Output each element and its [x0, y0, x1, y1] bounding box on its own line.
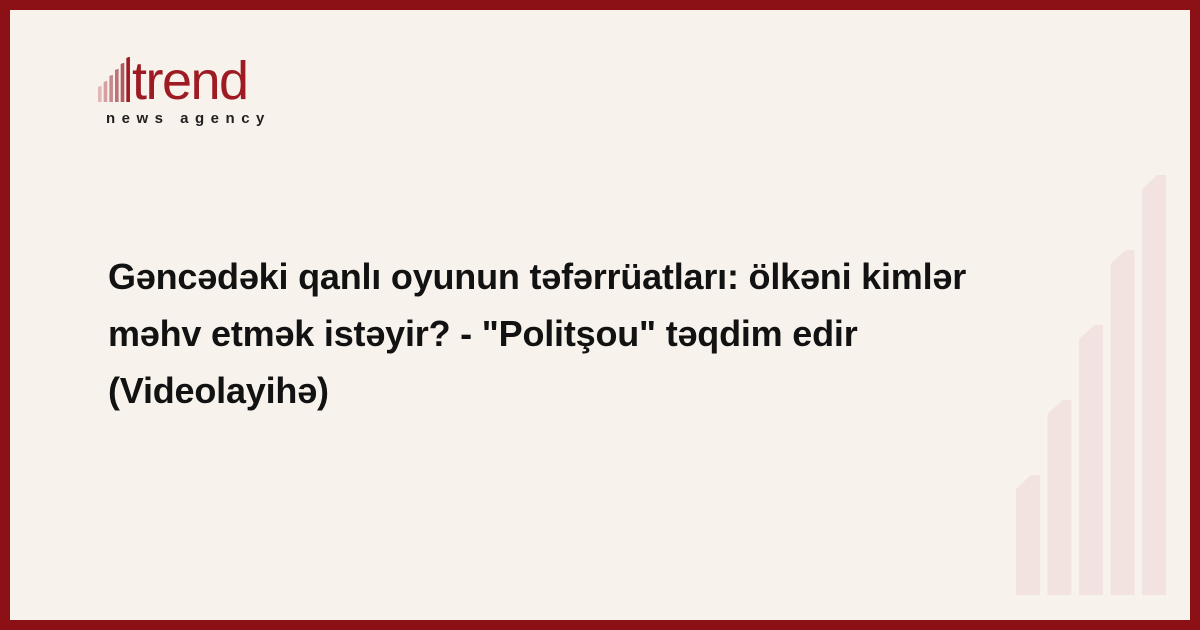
- trend-logo[interactable]: trend news agency: [98, 48, 348, 127]
- trend-bars-watermark: [1016, 165, 1166, 595]
- logo-mark-row: trend: [98, 48, 348, 104]
- card-canvas: trend news agency Gəncədəki qanlı oyunun…: [10, 10, 1190, 620]
- social-share-card: trend news agency Gəncədəki qanlı oyunun…: [0, 0, 1200, 630]
- trend-ascending-bars-mark: [98, 56, 132, 102]
- logo-wordmark: trend: [132, 56, 248, 106]
- headline-text: Gəncədəki qanlı oyunun təfərrüatları: öl…: [108, 248, 1028, 419]
- logo-tagline: news agency: [106, 110, 348, 127]
